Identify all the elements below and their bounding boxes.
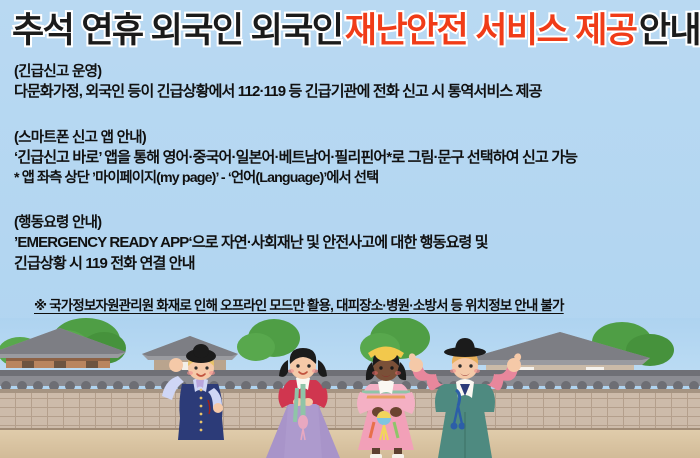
title-segment-2-highlight: 재난안전 서비스 제공 <box>345 13 637 48</box>
section-emergency-line-1: 다문화가정, 외국인 등이 긴급상황에서 112·119 등 긴급기관에 전화 … <box>14 81 542 103</box>
section-action-line-2: 긴급상황 시 119 전화 연결 안내 <box>14 253 488 275</box>
title-segment-3: 안내 <box>639 13 700 48</box>
section-smartphone-app: (스마트폰 신고 앱 안내) ‘긴급신고 바로’ 앱을 통해 영어·중국어·일본… <box>14 130 577 189</box>
illustration-hanbok-scene <box>0 318 700 458</box>
section-app-line-2-footnote: * 앱 좌측 상단 ’마이페이지(my page)’ - ‘언어(Languag… <box>14 168 577 189</box>
ground <box>0 430 700 458</box>
section-action-line-1: ’EMERGENCY READY APP‘으로 자연·사회재난 및 안전사고에 … <box>14 232 488 254</box>
poster-title: 추석 연휴 외국인 외국인 재난안전 서비스 제공 안내 <box>0 6 700 54</box>
section-action-heading: (행동요령 안내) <box>14 215 488 232</box>
section-emergency-report: (긴급신고 운영) 다문화가정, 외국인 등이 긴급상황에서 112·119 등… <box>14 64 542 102</box>
title-segment-1: 추석 연휴 외국인 외국인 <box>12 13 342 48</box>
poster-root: 추석 연휴 외국인 외국인 재난안전 서비스 제공 안내 (긴급신고 운영) 다… <box>0 0 700 458</box>
section-action-guide: (행동요령 안내) ’EMERGENCY READY APP‘으로 자연·사회재… <box>14 215 488 275</box>
section-app-line-1: ‘긴급신고 바로’ 앱을 통해 영어·중국어·일본어·베트남어·필리핀어*로 그… <box>14 147 577 169</box>
section-app-heading: (스마트폰 신고 앱 안내) <box>14 130 577 147</box>
section-emergency-heading: (긴급신고 운영) <box>14 64 542 81</box>
footnote-notice: ※ 국가정보자원관리원 화재로 인해 오프라인 모드만 활용, 대피장소·병원·… <box>34 294 564 314</box>
wall-brick-face <box>0 393 700 430</box>
perimeter-wall <box>0 370 700 432</box>
